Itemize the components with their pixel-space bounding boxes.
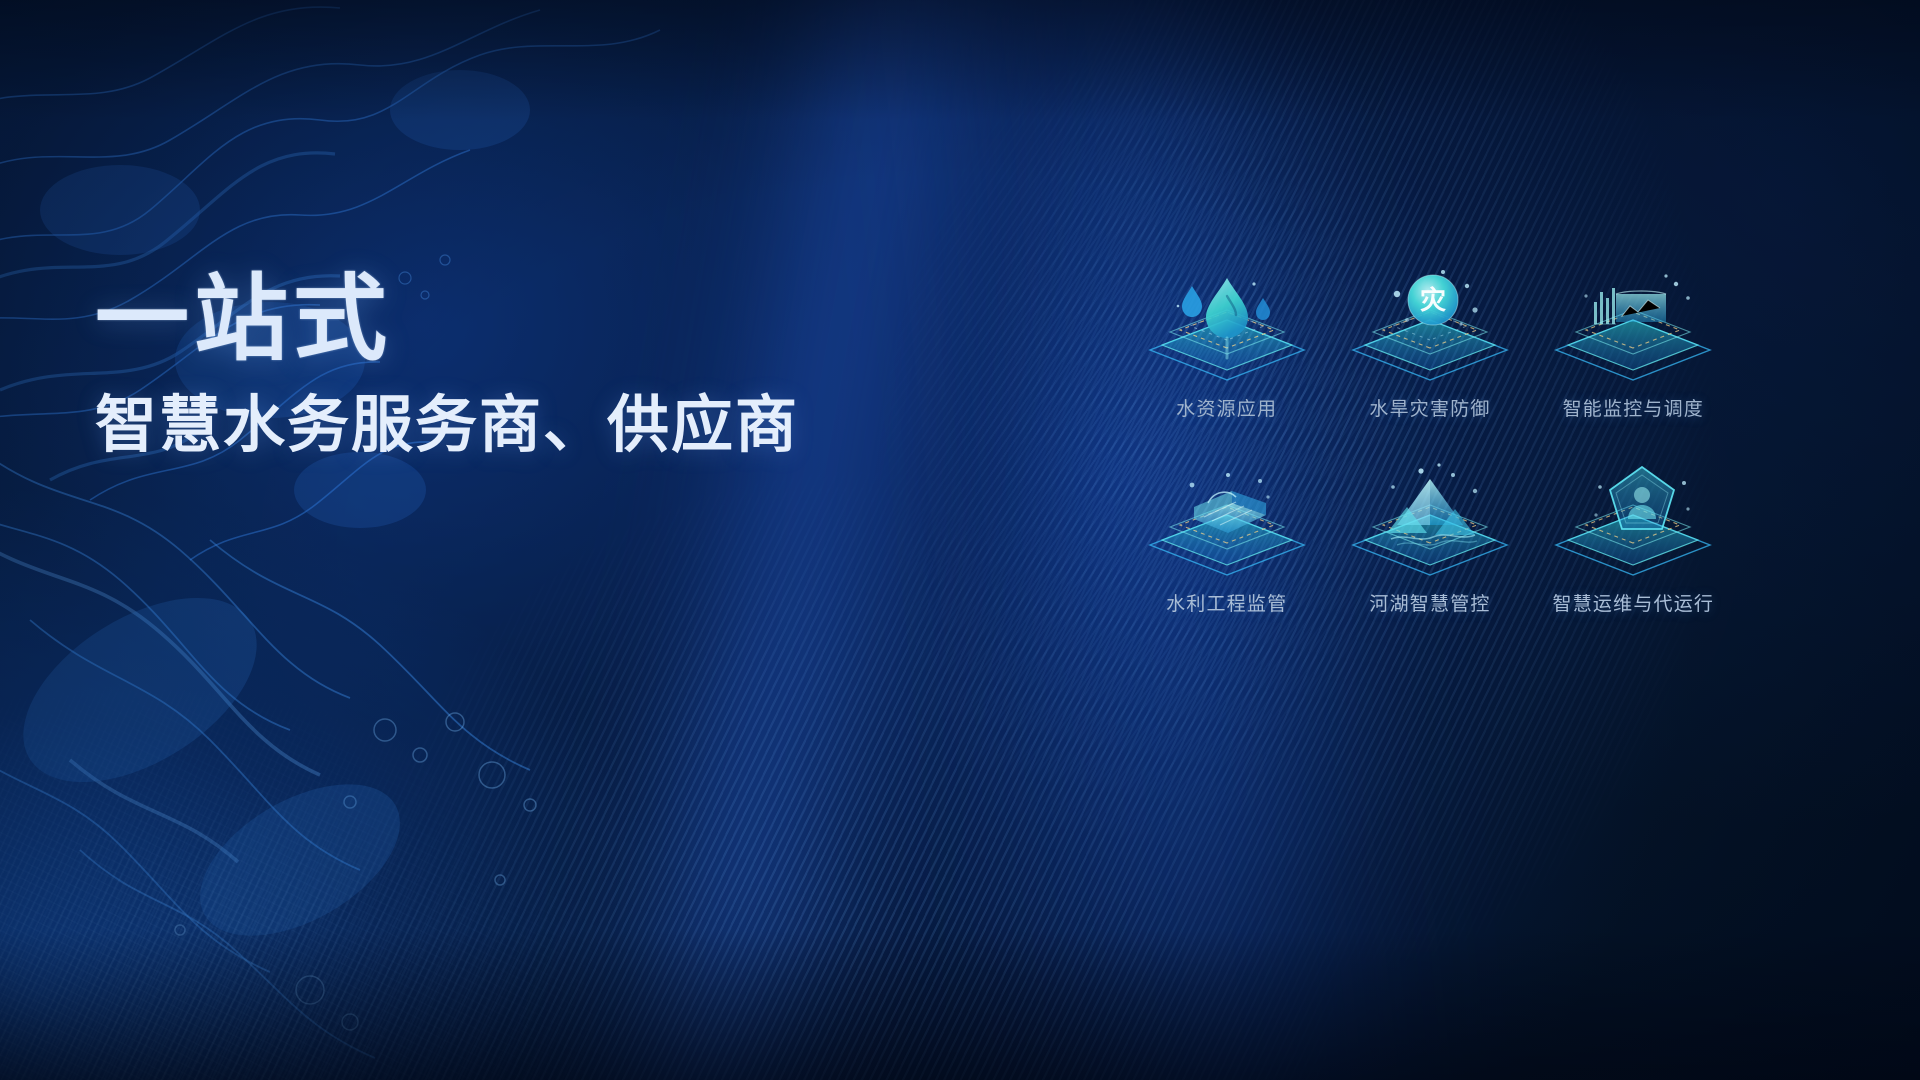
capability-label: 水旱灾害防御	[1369, 394, 1490, 421]
capability-label: 水利工程监管	[1166, 589, 1287, 616]
shield-operations-icon	[1538, 457, 1728, 583]
capability-card-river-lake[interactable]: 河湖智慧管控	[1328, 457, 1531, 616]
capability-card-water-resource[interactable]: 水资源应用	[1125, 262, 1328, 421]
capability-card-smart-monitoring[interactable]: 智能监控与调度	[1532, 262, 1735, 421]
water-drop-icon	[1132, 262, 1322, 388]
headline-block: 一站式 智慧水务服务商、供应商	[95, 268, 799, 461]
capability-label: 水资源应用	[1176, 394, 1277, 421]
capability-card-flood-drought[interactable]: 灾 水旱灾害防御	[1328, 262, 1531, 421]
capability-card-hydro-project[interactable]: 水利工程监管	[1125, 457, 1328, 616]
page-title: 一站式	[95, 268, 799, 370]
page-subtitle: 智慧水务服务商、供应商	[95, 390, 799, 461]
disaster-badge-char: 灾	[1420, 285, 1446, 315]
capability-card-smart-ops[interactable]: 智慧运维与代运行	[1532, 457, 1735, 616]
capability-grid: 水资源应用	[1125, 262, 1735, 616]
slide-stage: 一站式 智慧水务服务商、供应商	[0, 0, 1920, 1080]
dam-structure-icon	[1132, 457, 1322, 583]
monitor-screen-icon	[1538, 262, 1728, 388]
mountain-river-icon	[1335, 457, 1525, 583]
capability-label: 智慧运维与代运行	[1553, 589, 1715, 616]
capability-label: 河湖智慧管控	[1369, 589, 1490, 616]
disaster-sphere-icon: 灾	[1335, 262, 1525, 388]
capability-label: 智能监控与调度	[1563, 394, 1704, 421]
